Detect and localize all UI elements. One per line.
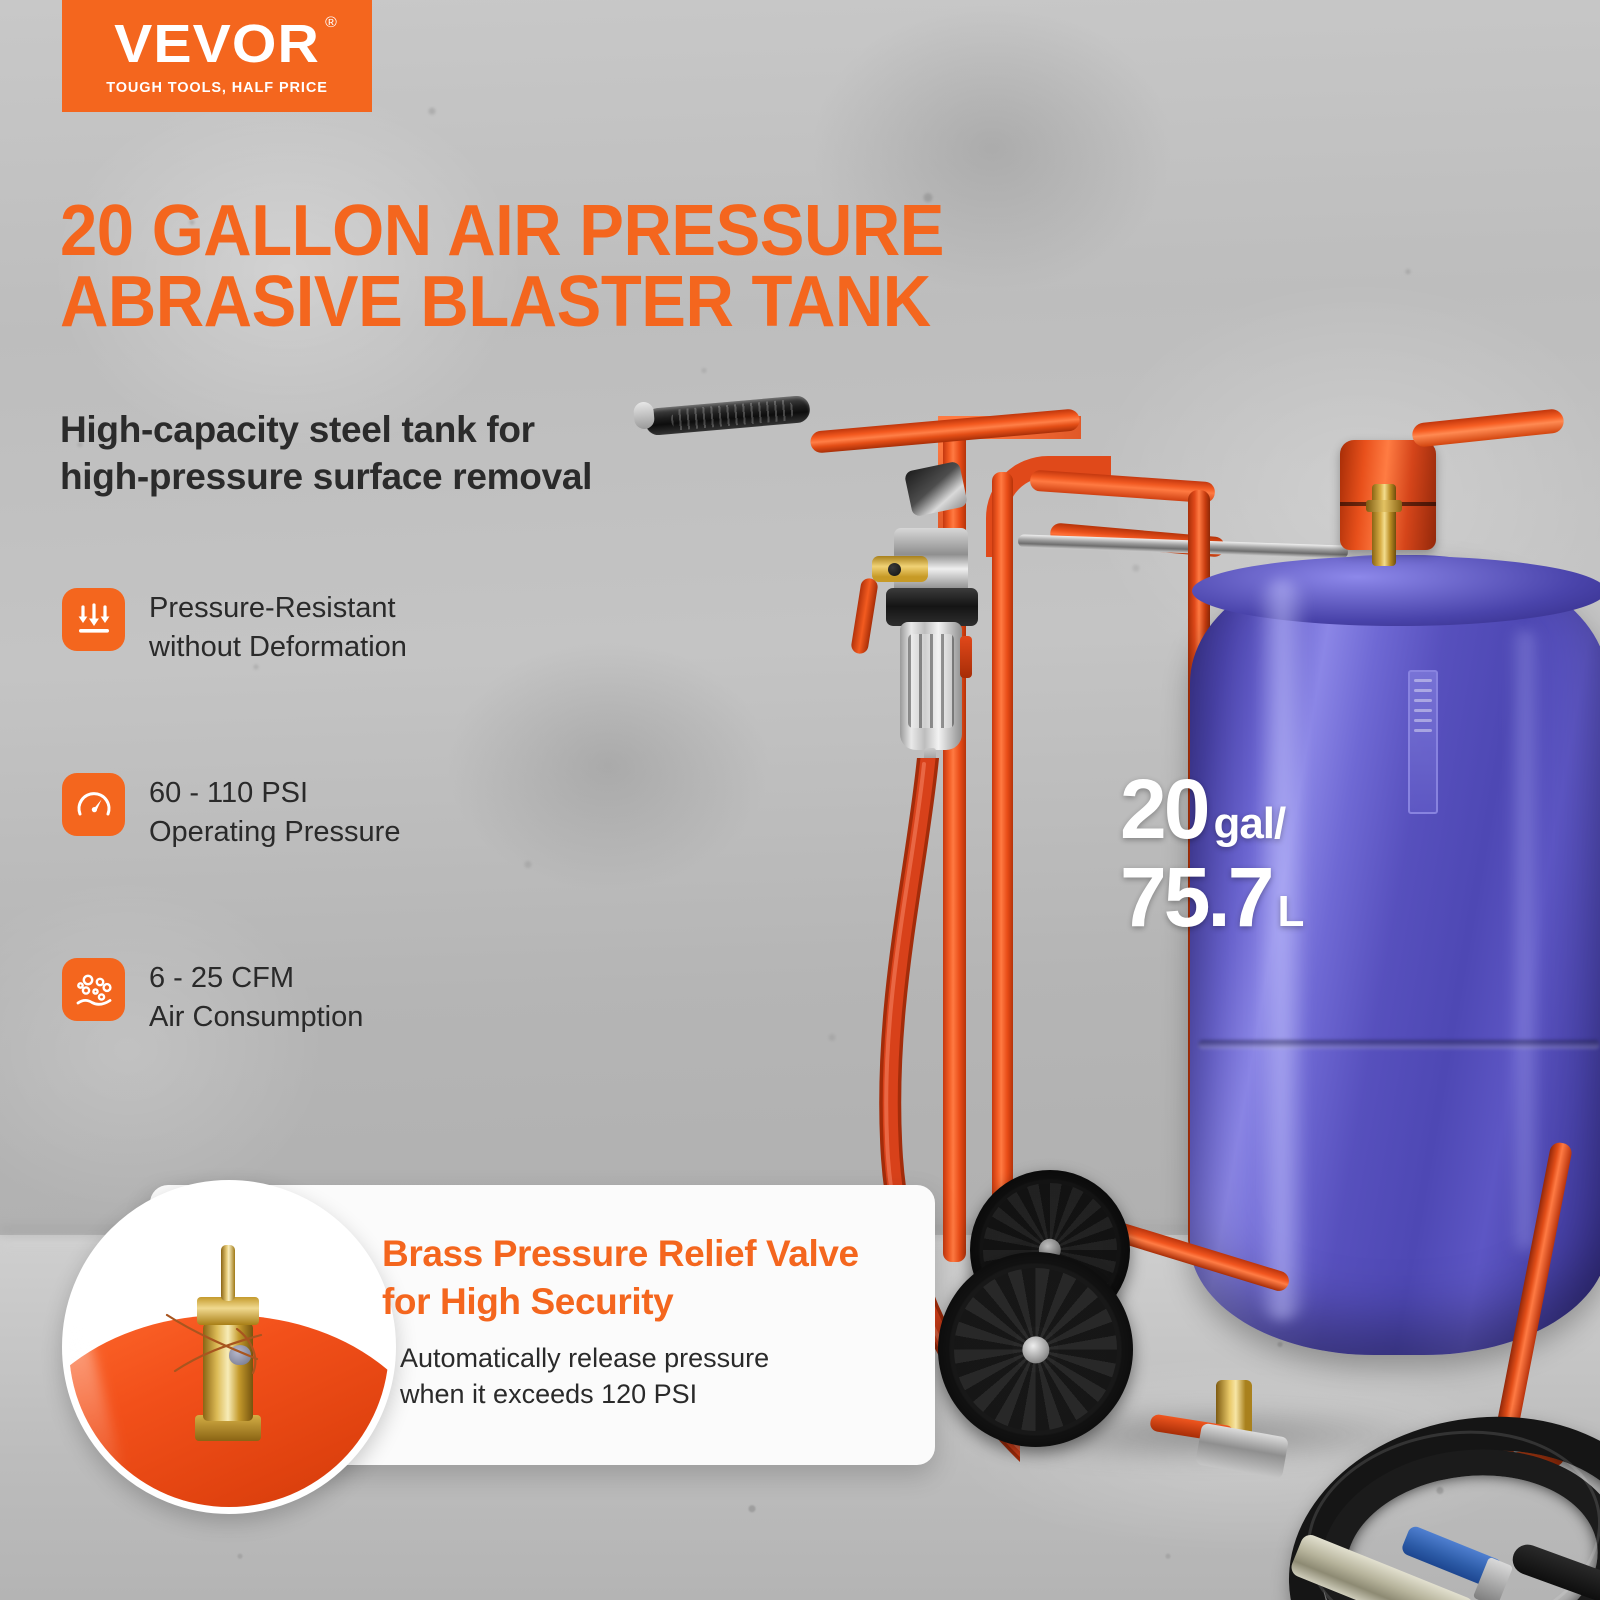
product-marketing-image: VEVOR® TOUGH TOOLS, HALF PRICE 20 GALLON… <box>0 0 1600 1600</box>
capacity-liters-value: 75.7 <box>1120 858 1272 938</box>
feature-line-2: without Deformation <box>149 628 407 667</box>
tank-top-rim <box>1192 556 1600 626</box>
callout-sub-line-1: Automatically release pressure <box>400 1340 920 1376</box>
vevor-logo: VEVOR® TOUGH TOOLS, HALF PRICE <box>62 0 372 112</box>
feature-text: 60 - 110 PSI Operating Pressure <box>149 773 400 851</box>
capacity-gallons-row: 20 gal/ <box>1120 770 1380 850</box>
filter-collar <box>886 588 978 626</box>
feature-item-pressure-resistant: Pressure-Resistant without Deformation <box>62 588 622 666</box>
brand-name: VEVOR® <box>114 17 320 71</box>
headline-line-2: ABRASIVE BLASTER TANK <box>60 267 990 338</box>
inset-valve-seal <box>229 1345 251 1365</box>
page-title: 20 GALLON AIR PRESSURE ABRASIVE BLASTER … <box>60 196 990 339</box>
callout-title: Brass Pressure Relief Valve for High Sec… <box>382 1230 922 1326</box>
pressure-gauge-icon <box>62 773 125 836</box>
feature-line-2: Air Consumption <box>149 998 363 1037</box>
inset-valve-hex-nut <box>197 1297 259 1325</box>
inset-valve-body <box>203 1323 253 1421</box>
tank-highlight-primary <box>1256 580 1308 1320</box>
tank-highlight-secondary <box>1510 630 1540 1250</box>
air-bubbles-flow-icon <box>62 958 125 1021</box>
feature-text: Pressure-Resistant without Deformation <box>149 588 407 666</box>
feature-line-1: 60 - 110 PSI <box>149 774 400 813</box>
feature-line-2: Operating Pressure <box>149 813 400 852</box>
air-filter-bowl <box>900 622 962 750</box>
pressure-down-arrows-icon <box>62 588 125 651</box>
product-image-blaster-tank: 20 gal/ 75.7 L <box>820 380 1600 1600</box>
callout-title-line-1: Brass Pressure Relief Valve <box>382 1230 922 1278</box>
page-subtitle: High-capacity steel tank for high-pressu… <box>60 406 700 501</box>
capacity-liters-unit: L <box>1278 891 1304 933</box>
callout-sub-line-2: when it exceeds 120 PSI <box>400 1376 920 1412</box>
brass-quick-coupler <box>872 556 928 582</box>
capacity-gallons-value: 20 <box>1120 770 1207 850</box>
tank-spec-sticker <box>1408 670 1438 814</box>
handle-grip-end-cap <box>633 401 655 430</box>
cart-wheel-front <box>938 1252 1133 1447</box>
feature-line-1: Pressure-Resistant <box>149 589 407 628</box>
capacity-badge: 20 gal/ 75.7 L <box>1120 770 1380 938</box>
frame-upright-left-secondary <box>992 472 1013 1272</box>
headline-line-1: 20 GALLON AIR PRESSURE <box>60 196 990 267</box>
brand-tagline: TOUGH TOOLS, HALF PRICE <box>106 80 328 96</box>
coupler-release-lever <box>850 577 879 655</box>
tank-weld-seam <box>1198 1040 1600 1049</box>
callout-title-line-2: for High Security <box>382 1278 922 1326</box>
callout-description: Automatically release pressure when it e… <box>400 1340 920 1412</box>
subhead-line-2: high-pressure surface removal <box>60 453 700 500</box>
registered-trademark-icon: ® <box>325 15 338 30</box>
capacity-liters-row: 75.7 L <box>1120 858 1380 938</box>
capacity-gallons-unit: gal/ <box>1213 803 1285 845</box>
brass-relief-valve <box>1372 484 1396 566</box>
feature-item-air-consumption: 6 - 25 CFM Air Consumption <box>62 958 622 1036</box>
callout-detail-photo-relief-valve <box>62 1180 396 1514</box>
feature-item-operating-pressure: 60 - 110 PSI Operating Pressure <box>62 773 622 851</box>
feature-line-1: 6 - 25 CFM <box>149 959 363 998</box>
tank-cap-lever <box>1411 408 1565 448</box>
inset-valve-stem <box>221 1245 235 1301</box>
filter-red-tab <box>960 636 972 678</box>
filter-drain-valve <box>924 748 936 770</box>
feature-list: Pressure-Resistant without Deformation 6… <box>62 588 622 1143</box>
feature-text: 6 - 25 CFM Air Consumption <box>149 958 363 1036</box>
subhead-line-1: High-capacity steel tank for <box>60 406 700 453</box>
